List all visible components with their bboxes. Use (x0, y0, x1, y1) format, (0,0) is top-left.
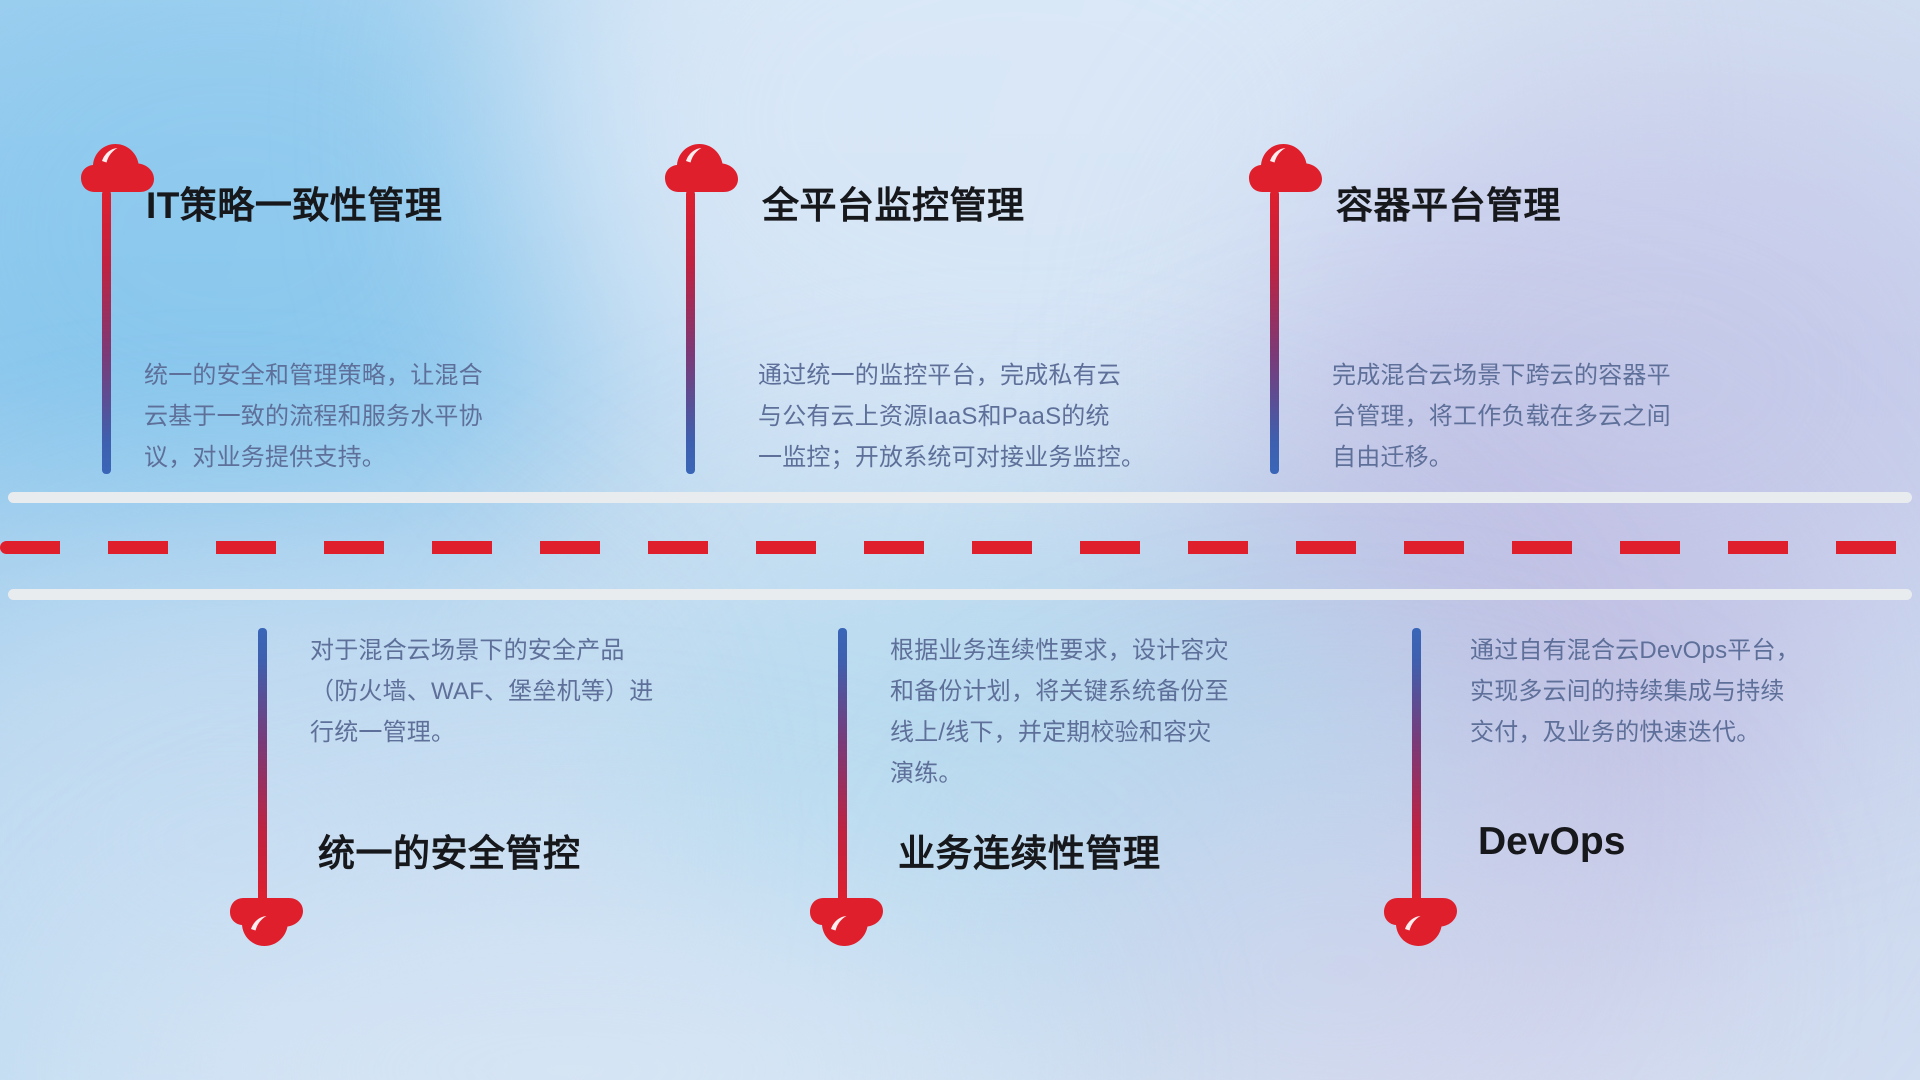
pin-body-text: 对于混合云场景下的安全产品 （防火墙、WAF、堡垒机等）进 行统一管理。 (310, 630, 710, 753)
pin-stem (686, 190, 695, 474)
cloud-pin-icon (809, 896, 885, 954)
pin-body-text: 通过统一的监控平台，完成私有云 与公有云上资源IaaS和PaaS的统 一监控；开… (758, 355, 1158, 478)
pin-title: 全平台监控管理 (762, 175, 1025, 229)
pin-body-text: 完成混合云场景下跨云的容器平 台管理，将工作负载在多云之间 自由迁移。 (1332, 355, 1732, 478)
pin-body-line: 通过自有混合云DevOps平台， (1470, 630, 1870, 671)
road-center-dashes (0, 541, 1920, 554)
pin-body-line: 通过统一的监控平台，完成私有云 (758, 355, 1158, 396)
pin-body-line: 台管理，将工作负载在多云之间 (1332, 396, 1732, 437)
pin-body-line: （防火墙、WAF、堡垒机等）进 (310, 671, 710, 712)
cloud-pin-icon (229, 896, 305, 954)
pin-title: 业务连续性管理 (898, 823, 1161, 877)
pin-body-line: 线上/线下，并定期校验和容灾 (890, 712, 1290, 753)
pin-body-line: 统一的安全和管理策略，让混合 (144, 355, 524, 396)
cloud-pin-icon (664, 136, 740, 194)
pin-title: 容器平台管理 (1336, 175, 1561, 229)
pin-body-line: 根据业务连续性要求，设计容灾 (890, 630, 1290, 671)
road-edge-line-bottom (8, 589, 1912, 600)
cloud-pin-icon (1248, 136, 1324, 194)
pin-body-line: 完成混合云场景下跨云的容器平 (1332, 355, 1732, 396)
road-dash-line (0, 541, 1920, 554)
pin-body-text: 通过自有混合云DevOps平台， 实现多云间的持续集成与持续 交付，及业务的快速… (1470, 630, 1870, 753)
pin-body-line: 对于混合云场景下的安全产品 (310, 630, 710, 671)
pin-stem (102, 190, 111, 474)
pin-title: IT策略一致性管理 (146, 175, 442, 229)
pin-stem (1270, 190, 1279, 474)
pin-body-line: 一监控；开放系统可对接业务监控。 (758, 437, 1158, 478)
pin-body-line: 行统一管理。 (310, 712, 710, 753)
pin-body-line: 实现多云间的持续集成与持续 (1470, 671, 1870, 712)
pin-title: 统一的安全管控 (318, 823, 581, 877)
pin-body-line: 演练。 (890, 753, 1290, 794)
cloud-pin-icon (80, 136, 156, 194)
road-edge-line-top (8, 492, 1912, 503)
pin-body-line: 议，对业务提供支持。 (144, 437, 524, 478)
pin-body-line: 云基于一致的流程和服务水平协 (144, 396, 524, 437)
road-divider (0, 492, 1920, 600)
pin-stem (1412, 628, 1421, 904)
pin-stem (258, 628, 267, 904)
pin-stem (838, 628, 847, 904)
pin-body-text: 统一的安全和管理策略，让混合 云基于一致的流程和服务水平协 议，对业务提供支持。 (144, 355, 524, 478)
pin-body-line: 和备份计划，将关键系统备份至 (890, 671, 1290, 712)
pin-title: DevOps (1478, 820, 1625, 864)
cloud-pin-icon (1383, 896, 1459, 954)
pin-body-line: 交付，及业务的快速迭代。 (1470, 712, 1870, 753)
pin-body-text: 根据业务连续性要求，设计容灾 和备份计划，将关键系统备份至 线上/线下，并定期校… (890, 630, 1290, 794)
pin-body-line: 自由迁移。 (1332, 437, 1732, 478)
pin-body-line: 与公有云上资源IaaS和PaaS的统 (758, 396, 1158, 437)
infographic-canvas: IT策略一致性管理 统一的安全和管理策略，让混合 云基于一致的流程和服务水平协 … (0, 0, 1920, 1080)
